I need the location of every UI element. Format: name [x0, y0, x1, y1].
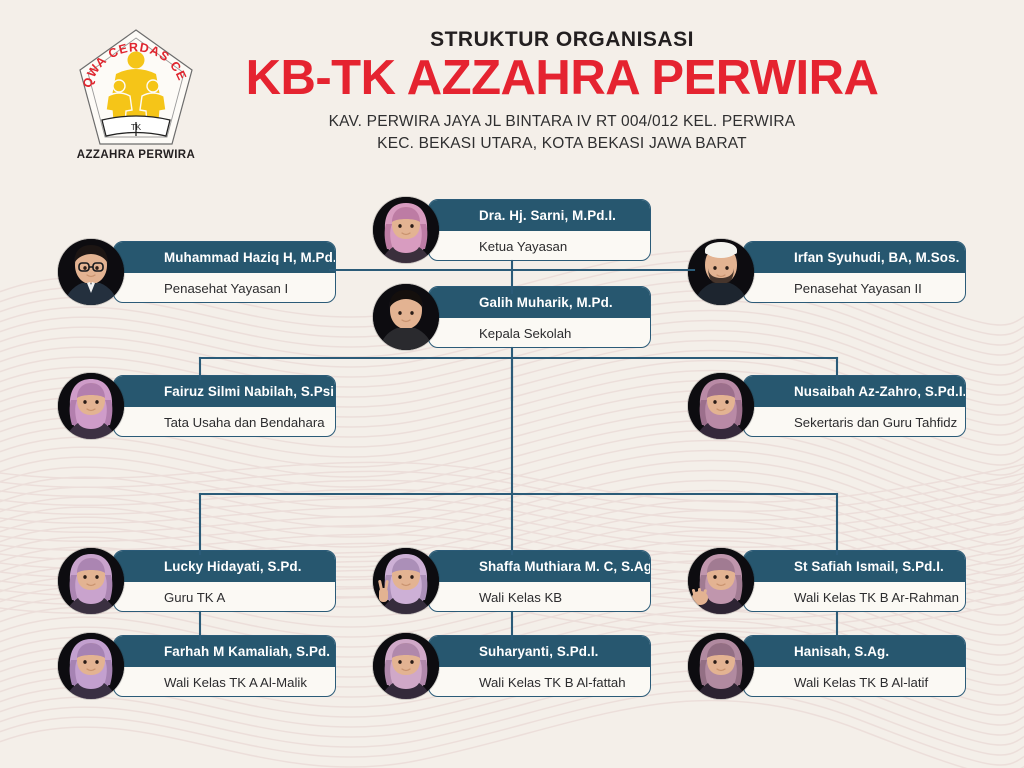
org-node-role: Ketua Yayasan	[429, 231, 650, 261]
logo-book-label: TK	[131, 123, 142, 132]
org-node-name: Farhah M Kamaliah, S.Pd.	[114, 636, 335, 667]
org-node-name: Muhammad Haziq H, M.Pd.	[114, 242, 335, 273]
avatar	[688, 548, 754, 614]
avatar	[58, 239, 124, 305]
avatar	[58, 373, 124, 439]
page-title: KB-TK AZZAHRA PERWIRA	[212, 53, 912, 104]
org-node-name: Dra. Hj. Sarni, M.Pd.I.	[429, 200, 650, 231]
address-line-2: KEC. BEKASI UTARA, KOTA BEKASI JAWA BARA…	[212, 133, 912, 155]
logo-bottom-text: AZZAHRA PERWIRA	[77, 149, 195, 161]
org-card: Fairuz Silmi Nabilah, S.Psi.Tata Usaha d…	[113, 375, 336, 437]
org-node-name: Nusaibah Az-Zahro, S.Pd.I.	[744, 376, 965, 407]
org-node-role: Penasehat Yayasan I	[114, 273, 335, 303]
org-card: Nusaibah Az-Zahro, S.Pd.I.Sekertaris dan…	[743, 375, 966, 437]
org-node-role: Wali Kelas TK B Ar-Rahman	[744, 582, 965, 612]
avatar	[688, 239, 754, 305]
page-subtitle: STRUKTUR ORGANISASI	[212, 28, 912, 51]
page-header: TAQWA CERDAS CERIA TK AZZAHRA PERWIRA ST…	[0, 0, 1024, 180]
org-node-name: St Safiah Ismail, S.Pd.I.	[744, 551, 965, 582]
org-node-name: Lucky Hidayati, S.Pd.	[114, 551, 335, 582]
avatar	[688, 373, 754, 439]
header-text-block: STRUKTUR ORGANISASI KB-TK AZZAHRA PERWIR…	[212, 28, 912, 155]
school-crest-logo: TAQWA CERDAS CERIA TK AZZAHRA PERWIRA	[72, 24, 200, 164]
avatar	[373, 284, 439, 350]
org-card: Dra. Hj. Sarni, M.Pd.I.Ketua Yayasan	[428, 199, 651, 261]
org-node-role: Guru TK A	[114, 582, 335, 612]
org-node-role: Sekertaris dan Guru Tahfidz	[744, 407, 965, 437]
avatar	[58, 633, 124, 699]
org-card: St Safiah Ismail, S.Pd.I.Wali Kelas TK B…	[743, 550, 966, 612]
org-card: Shaffa Muthiara M. C, S.Ag.Wali Kelas KB	[428, 550, 651, 612]
avatar	[373, 633, 439, 699]
avatar	[688, 633, 754, 699]
org-node-name: Hanisah, S.Ag.	[744, 636, 965, 667]
org-node-role: Tata Usaha dan Bendahara	[114, 407, 335, 437]
org-card: Galih Muharik, M.Pd.Kepala Sekolah	[428, 286, 651, 348]
org-node-role: Wali Kelas KB	[429, 582, 650, 612]
org-node-role: Wali Kelas TK B Al-latif	[744, 667, 965, 697]
org-node-name: Irfan Syuhudi, BA, M.Sos.	[744, 242, 965, 273]
org-card: Muhammad Haziq H, M.Pd.Penasehat Yayasan…	[113, 241, 336, 303]
org-node-role: Kepala Sekolah	[429, 318, 650, 348]
org-node-name: Galih Muharik, M.Pd.	[429, 287, 650, 318]
org-card: Suharyanti, S.Pd.I.Wali Kelas TK B Al-fa…	[428, 635, 651, 697]
org-node-role: Penasehat Yayasan II	[744, 273, 965, 303]
avatar	[373, 548, 439, 614]
org-node-role: Wali Kelas TK A Al-Malik	[114, 667, 335, 697]
org-card: Hanisah, S.Ag.Wali Kelas TK B Al-latif	[743, 635, 966, 697]
org-node-name: Suharyanti, S.Pd.I.	[429, 636, 650, 667]
avatar	[373, 197, 439, 263]
org-node-name: Fairuz Silmi Nabilah, S.Psi.	[114, 376, 335, 407]
address-line-1: KAV. PERWIRA JAYA JL BINTARA IV RT 004/0…	[212, 111, 912, 133]
org-card: Farhah M Kamaliah, S.Pd.Wali Kelas TK A …	[113, 635, 336, 697]
org-node-name: Shaffa Muthiara M. C, S.Ag.	[429, 551, 650, 582]
org-card: Irfan Syuhudi, BA, M.Sos.Penasehat Yayas…	[743, 241, 966, 303]
org-node-role: Wali Kelas TK B Al-fattah	[429, 667, 650, 697]
avatar	[58, 548, 124, 614]
org-card: Lucky Hidayati, S.Pd.Guru TK A	[113, 550, 336, 612]
